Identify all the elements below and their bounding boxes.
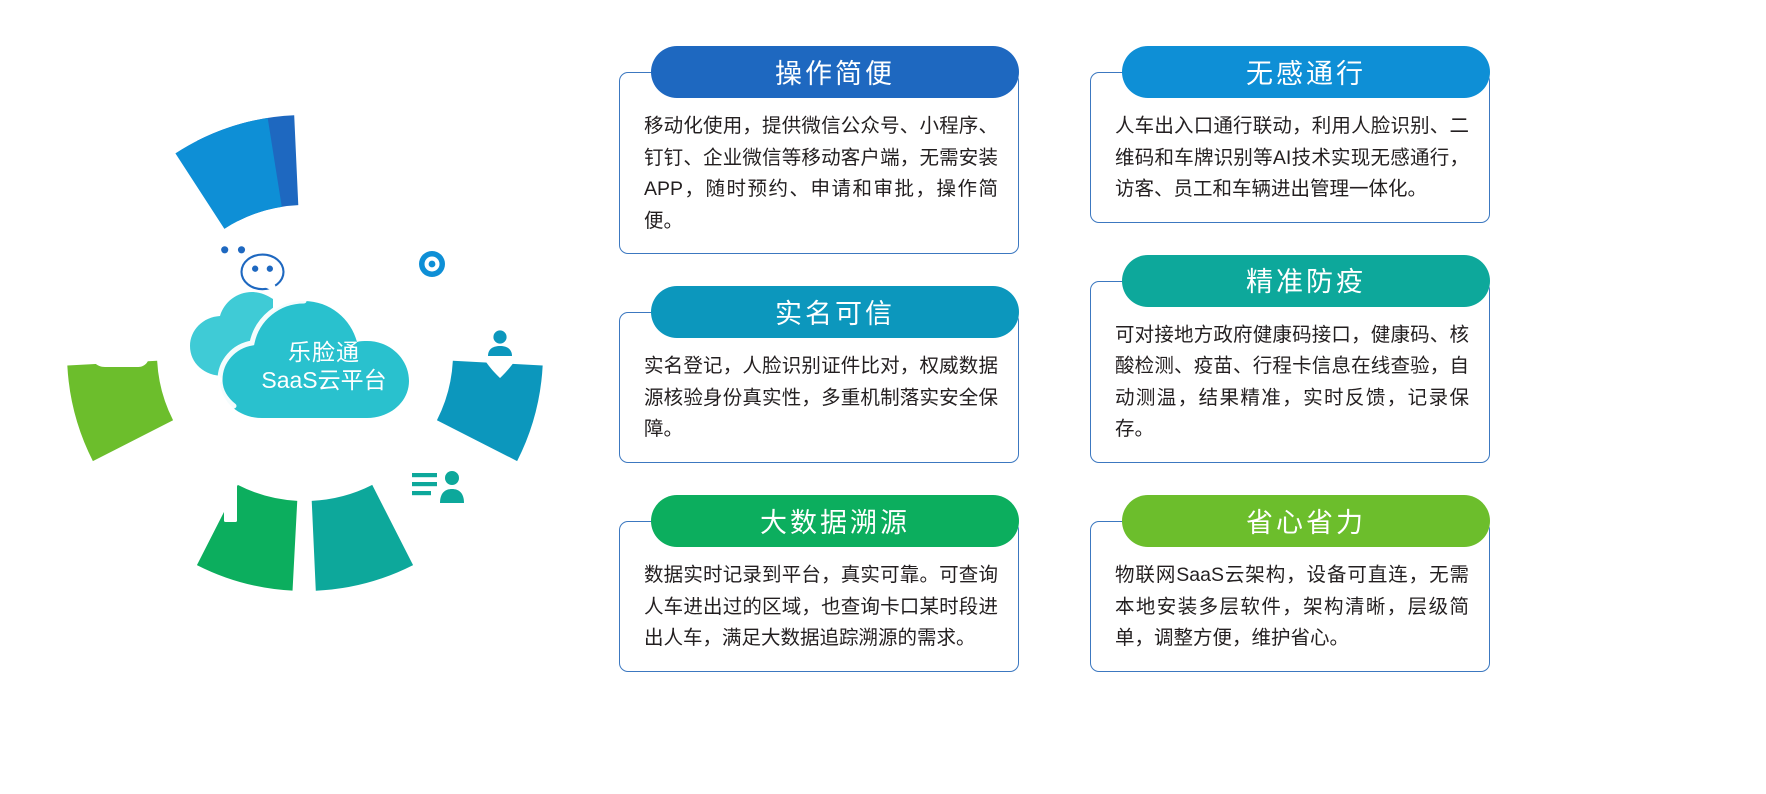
card-header: 精准防疫 bbox=[1122, 255, 1490, 307]
card-body: 可对接地方政府健康码接口，健康码、核酸检测、疫苗、行程卡信息在线查验，自动测温，… bbox=[1090, 281, 1490, 463]
cards-column-right: 无感通行 人车出入口通行联动，利用人脸识别、二维码和车牌识别等AI技术实现无感通… bbox=[1090, 0, 1490, 704]
card-text: 实名登记，人脸识别证件比对，权威数据源核验身份真实性，多重机制落实安全保障。 bbox=[644, 351, 998, 446]
feature-card-seamless-access[interactable]: 无感通行 人车出入口通行联动，利用人脸识别、二维码和车牌识别等AI技术实现无感通… bbox=[1090, 46, 1490, 223]
wheel-segment-pin[interactable] bbox=[437, 361, 543, 461]
feature-wheel: 乐脸通 SaaS云平台 bbox=[60, 108, 550, 598]
center-logo: 乐脸通 SaaS云平台 bbox=[178, 258, 436, 448]
card-text: 可对接地方政府健康码接口，健康码、核酸检测、疫苗、行程卡信息在线查验，自动测温，… bbox=[1115, 320, 1469, 446]
feature-card-real-name-trust[interactable]: 实名可信 实名登记，人脸识别证件比对，权威数据源核验身份真实性，多重机制落实安全… bbox=[619, 286, 1019, 463]
feature-card-big-data-trace[interactable]: 大数据溯源 数据实时记录到平台，真实可靠。可查询人车进出过的区域，也查询卡口某时… bbox=[619, 495, 1019, 672]
card-text: 数据实时记录到平台，真实可靠。可查询人车进出过的区域，也查询卡口某时段进出人车，… bbox=[644, 560, 998, 655]
id-card-icon bbox=[405, 461, 467, 510]
infographic-root: 乐脸通 SaaS云平台 操作简便 移动化使用，提供微信公众号、小程序、钉钉、企业… bbox=[0, 0, 1766, 794]
card-header: 大数据溯源 bbox=[651, 495, 1019, 547]
card-text: 物联网SaaS云架构，设备可直连，无需本地安装多层软件，架构清晰，层级简单，调整… bbox=[1115, 560, 1469, 655]
wheel-segment-cloud[interactable] bbox=[67, 361, 173, 461]
cards-column-left: 操作简便 移动化使用，提供微信公众号、小程序、钉钉、企业微信等移动客户端，无需安… bbox=[619, 0, 1019, 704]
card-header: 省心省力 bbox=[1122, 495, 1490, 547]
cloud-shape bbox=[178, 258, 436, 448]
card-header: 实名可信 bbox=[651, 286, 1019, 338]
card-text: 人车出入口通行联动，利用人脸识别、二维码和车牌识别等AI技术实现无感通行，访客、… bbox=[1115, 111, 1469, 206]
card-text: 移动化使用，提供微信公众号、小程序、钉钉、企业微信等移动客户端，无需安装APP，… bbox=[644, 111, 998, 237]
bar-chart-icon bbox=[188, 470, 237, 522]
card-header: 操作简便 bbox=[651, 46, 1019, 98]
card-body: 移动化使用，提供微信公众号、小程序、钉钉、企业微信等移动客户端，无需安装APP，… bbox=[619, 72, 1019, 254]
feature-card-operation-simple[interactable]: 操作简便 移动化使用，提供微信公众号、小程序、钉钉、企业微信等移动客户端，无需安… bbox=[619, 46, 1019, 254]
wheel-segment-idcard[interactable] bbox=[312, 485, 413, 591]
feature-card-precise-epidemic[interactable]: 精准防疫 可对接地方政府健康码接口，健康码、核酸检测、疫苗、行程卡信息在线查验，… bbox=[1090, 255, 1490, 463]
wheel-segment-gear[interactable] bbox=[175, 118, 281, 229]
feature-card-effort-saving[interactable]: 省心省力 物联网SaaS云架构，设备可直连，无需本地安装多层软件，架构清晰，层级… bbox=[1090, 495, 1490, 672]
card-header: 无感通行 bbox=[1122, 46, 1490, 98]
